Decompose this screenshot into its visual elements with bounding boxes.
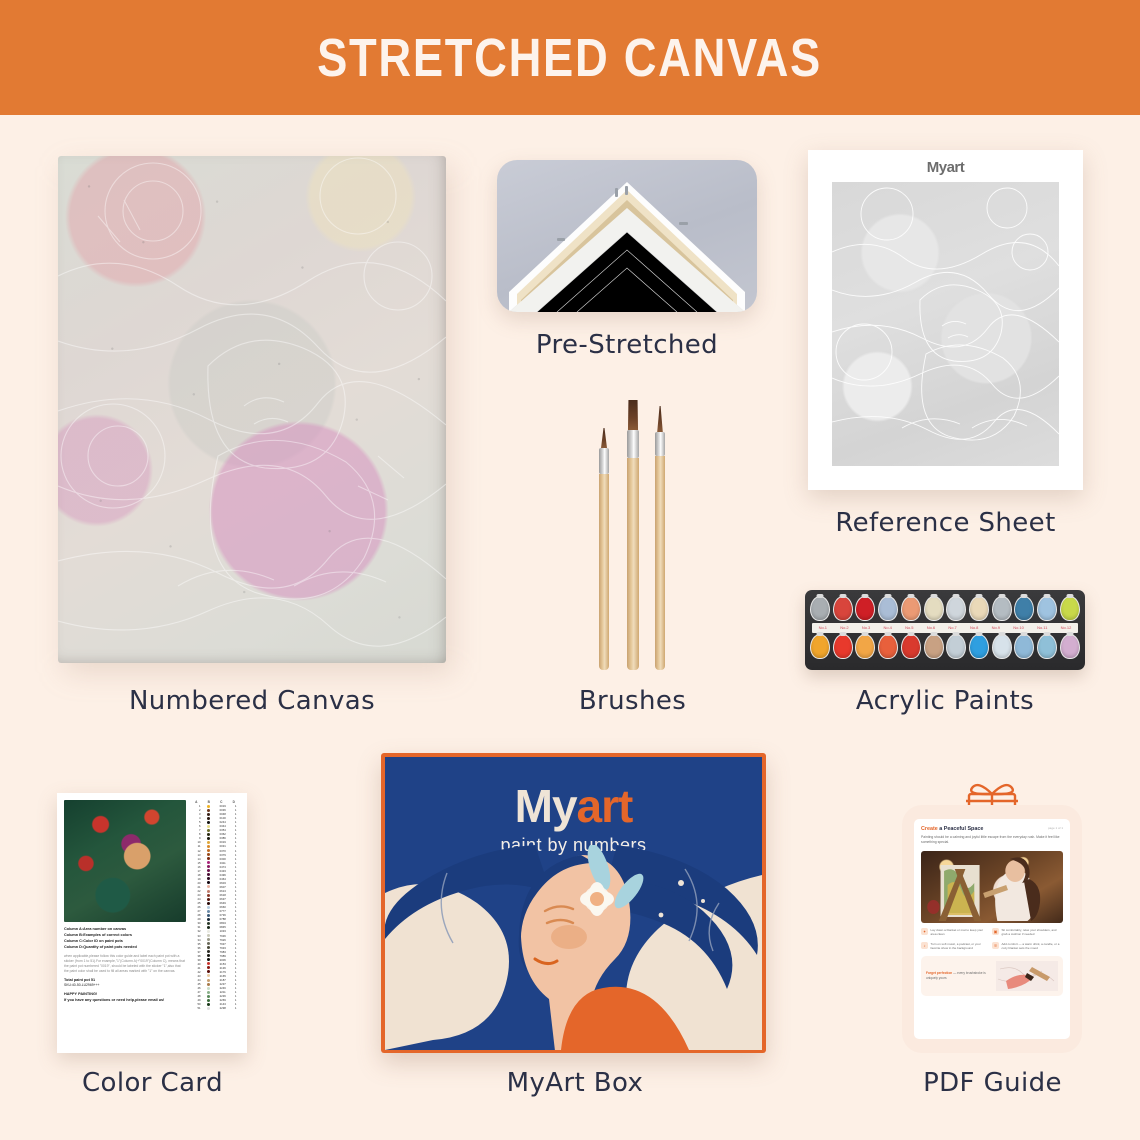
cc-swatch — [203, 962, 215, 965]
caption-reference-sheet: Reference Sheet — [808, 508, 1083, 538]
cc-swatch — [203, 805, 215, 808]
pdf-callout-highlight: Forget perfection — [926, 971, 952, 975]
reference-sheet-artwork — [832, 182, 1059, 466]
pdf-page-number: page 1 of 1 — [1048, 826, 1063, 830]
pre-stretched-photo — [497, 160, 757, 312]
cc-swatch — [203, 974, 215, 977]
pre-stretched-image — [497, 160, 757, 312]
brush-small — [599, 430, 609, 670]
pdf-tip-text: Lay down a blanket or mat to keep your a… — [931, 928, 990, 937]
color-card-image: Column A:Area number on canvas Column B:… — [57, 793, 247, 1053]
candle-icon: ❊ — [992, 942, 999, 949]
cc-swatch — [203, 942, 215, 945]
paint-pot-bottom-9 — [992, 634, 1012, 659]
paint-label-9: No.9 — [992, 626, 1000, 630]
logo-art: art — [577, 780, 633, 832]
pdf-tip: ❊Add comfort — a warm drink, a candle, o… — [992, 942, 1063, 951]
acrylic-paints-image: No.1No.2No.3No.4No.5No.6No.7No.8No.9No.1… — [805, 590, 1085, 670]
cc-swatch — [203, 845, 215, 848]
brush-round — [655, 408, 665, 670]
reference-line-art — [832, 182, 1059, 466]
cc-swatch — [203, 833, 215, 836]
paint-label-7: No.7 — [948, 626, 956, 630]
paint-pot-top-6 — [924, 596, 944, 621]
pdf-callout-text: Forget perfection — every brushstroke is… — [926, 971, 992, 981]
cc-swatch — [203, 825, 215, 828]
paint-row-top — [810, 596, 1080, 622]
cc-swatch — [203, 950, 215, 953]
paint-pot-top-12 — [1060, 596, 1080, 621]
paint-label-2: No.2 — [840, 626, 848, 630]
paint-pot-top-10 — [1014, 596, 1034, 621]
paint-pot-top-11 — [1037, 596, 1057, 621]
cc-swatch — [203, 979, 215, 982]
box-illustration — [385, 845, 762, 1050]
pdf-guide-page: page 1 of 1 Create a Peaceful Space Pain… — [914, 819, 1070, 1039]
paint-pot-bottom-2 — [833, 634, 853, 659]
brush-painting-illustration — [996, 961, 1058, 991]
brushes-image — [583, 385, 683, 670]
color-card-index-table: A B C D 10019120036130048140100150244160… — [190, 800, 240, 1046]
color-card-row: 5122981 — [190, 1006, 240, 1010]
paint-label-strip: No.1No.2No.3No.4No.5No.6No.7No.8No.9No.1… — [812, 623, 1078, 633]
pdf-heading: page 1 of 1 Create a Peaceful Space — [921, 826, 1063, 832]
cc-swatch — [203, 809, 215, 812]
cc-swatch — [203, 865, 215, 868]
pdf-photo-illustration — [921, 851, 1063, 923]
pdf-tip-text: Turn on soft music, a podcast, or your f… — [931, 942, 990, 951]
paint-pot-top-4 — [878, 596, 898, 621]
paint-pot-top-2 — [833, 596, 853, 621]
paint-label-8: No.8 — [970, 626, 978, 630]
brush-flat — [627, 402, 639, 670]
logo-my: My — [515, 780, 577, 832]
paint-pot-top-9 — [992, 596, 1012, 621]
paint-pot-bottom-7 — [946, 634, 966, 659]
color-card-sku: SKU:40-50-LU2969+++ — [64, 983, 186, 988]
cc-swatch — [203, 869, 215, 872]
cc-swatch — [203, 910, 215, 913]
color-card-paper: Column A:Area number on canvas Column B:… — [57, 793, 247, 1053]
paint-pot-top-1 — [810, 596, 830, 621]
pdf-guide-image: page 1 of 1 Create a Peaceful Space Pain… — [897, 778, 1087, 1053]
cc-swatch — [203, 987, 215, 990]
cc-swatch — [203, 983, 215, 986]
paint-pot-top-3 — [855, 596, 875, 621]
paint-pot-top-5 — [901, 596, 921, 621]
cc-swatch — [203, 813, 215, 816]
box-front: Myart paint by numbers — [385, 757, 762, 1050]
cc-swatch — [203, 902, 215, 905]
cc-qty: 1 — [231, 1006, 240, 1010]
cc-swatch — [203, 926, 215, 929]
cc-swatch — [203, 890, 215, 893]
paint-pot-bottom-3 — [855, 634, 875, 659]
color-card-rows: 1001912003613004814010015024416034417035… — [190, 804, 240, 1046]
cc-swatch — [203, 1003, 215, 1006]
cc-color-id: 2298 — [214, 1006, 231, 1010]
paint-pot-top-7 — [946, 596, 966, 621]
caption-brushes: Brushes — [500, 686, 765, 716]
pdf-tip: ✦Lay down a blanket or mat to keep your … — [921, 928, 992, 937]
numbered-canvas-image — [58, 156, 446, 663]
paint-pot-bottom-4 — [878, 634, 898, 659]
paint-pot-bottom-11 — [1037, 634, 1057, 659]
pdf-subtitle: Painting should be a calming and joyful … — [921, 835, 1063, 846]
paint-label-1: No.1 — [819, 626, 827, 630]
paint-label-6: No.6 — [927, 626, 935, 630]
color-card-artwork — [64, 800, 186, 922]
cc-swatch — [203, 877, 215, 880]
paint-label-5: No.5 — [905, 626, 913, 630]
cc-swatch — [203, 894, 215, 897]
pdf-heading-highlight: Create — [921, 826, 938, 832]
pdf-callout: Forget perfection — every brushstroke is… — [921, 956, 1063, 996]
cc-swatch — [203, 999, 215, 1002]
canvas-face — [58, 156, 446, 663]
cc-swatch — [203, 991, 215, 994]
cc-swatch — [203, 970, 215, 973]
paint-pot-bottom-6 — [924, 634, 944, 659]
cc-swatch — [203, 857, 215, 860]
cc-swatch — [203, 954, 215, 957]
color-card-instructions: when applicable,please follow this color… — [64, 954, 186, 975]
pdf-tip: ♪Turn on soft music, a podcast, or your … — [921, 942, 992, 951]
pdf-tip-list: ✦Lay down a blanket or mat to keep your … — [921, 928, 1063, 956]
cc-swatch — [203, 906, 215, 909]
paint-tray: No.1No.2No.3No.4No.5No.6No.7No.8No.9No.1… — [805, 590, 1085, 670]
paint-pot-bottom-8 — [969, 634, 989, 659]
pdf-photo — [921, 851, 1063, 923]
paint-pot-bottom-5 — [901, 634, 921, 659]
cc-swatch — [203, 1007, 215, 1010]
canvas-corner-illustration — [497, 160, 757, 312]
caption-color-card: Color Card — [40, 1068, 265, 1098]
cc-swatch — [203, 930, 215, 933]
chair-icon: ▣ — [992, 928, 999, 935]
paint-label-3: No.3 — [862, 626, 870, 630]
paint-label-4: No.4 — [883, 626, 891, 630]
caption-numbered-canvas: Numbered Canvas — [58, 686, 446, 716]
cc-swatch — [203, 918, 215, 921]
paint-pot-bottom-10 — [1014, 634, 1034, 659]
cc-swatch — [203, 934, 215, 937]
pdf-guide-card: page 1 of 1 Create a Peaceful Space Pain… — [902, 805, 1082, 1053]
canvas-outline-art — [58, 156, 446, 663]
reference-sheet-logo: Myart — [808, 159, 1083, 176]
legend-column-d: Column D:Quantity of paint pots needed — [64, 945, 186, 951]
cc-swatch — [203, 946, 215, 949]
cc-swatch — [203, 853, 215, 856]
caption-myart-box: MyArt Box — [385, 1068, 765, 1098]
cc-swatch — [203, 898, 215, 901]
paint-pot-top-8 — [969, 596, 989, 621]
box-logo: Myart — [385, 779, 762, 833]
cc-swatch — [203, 837, 215, 840]
caption-pre-stretched: Pre-Stretched — [497, 330, 757, 360]
caption-pdf-guide: PDF Guide — [880, 1068, 1105, 1098]
broom-icon: ✦ — [921, 928, 928, 935]
cc-swatch — [203, 817, 215, 820]
cc-swatch — [203, 995, 215, 998]
caption-acrylic-paints: Acrylic Paints — [805, 686, 1085, 716]
color-card-legend: Column A:Area number on canvas Column B:… — [64, 927, 186, 1003]
pdf-tip-text: Sit comfortably, relax your shoulders, a… — [1002, 928, 1061, 937]
cc-area: 51 — [190, 1006, 203, 1010]
paint-row-bottom — [810, 634, 1080, 660]
cc-swatch — [203, 841, 215, 844]
pdf-callout-image — [996, 961, 1058, 991]
music-icon: ♪ — [921, 942, 928, 949]
cc-swatch — [203, 914, 215, 917]
page-title: STRETCHED CANVAS — [318, 27, 823, 89]
cc-swatch — [203, 821, 215, 824]
cc-swatch — [203, 966, 215, 969]
color-card-left: Column A:Area number on canvas Column B:… — [64, 800, 186, 1046]
paint-pot-bottom-12 — [1060, 634, 1080, 659]
header-banner: STRETCHED CANVAS — [0, 0, 1140, 115]
cc-swatch — [203, 922, 215, 925]
pdf-tip-text: Add comfort — a warm drink, a candle, or… — [1002, 942, 1061, 951]
cc-swatch — [203, 958, 215, 961]
pdf-tip: ▣Sit comfortably, relax your shoulders, … — [992, 928, 1063, 937]
reference-sheet-image: Myart — [808, 150, 1083, 490]
cc-swatch — [203, 849, 215, 852]
product-infographic: STRETCHED CANVAS — [0, 0, 1140, 1140]
cc-swatch — [203, 829, 215, 832]
cc-swatch — [203, 861, 215, 864]
paint-pot-bottom-1 — [810, 634, 830, 659]
cc-swatch — [203, 873, 215, 876]
paint-label-11: No.11 — [1037, 626, 1047, 630]
cc-swatch — [203, 885, 215, 888]
paint-label-10: No.10 — [1013, 626, 1024, 630]
cc-swatch — [203, 938, 215, 941]
paint-label-12: No.12 — [1061, 626, 1072, 630]
color-card-contact: If you have any questions or need help,p… — [64, 998, 186, 1004]
cc-swatch — [203, 881, 215, 884]
reference-sheet-paper: Myart — [808, 150, 1083, 490]
myart-box-image: Myart paint by numbers — [381, 753, 766, 1053]
pdf-heading-rest: a Peaceful Space — [938, 826, 984, 832]
